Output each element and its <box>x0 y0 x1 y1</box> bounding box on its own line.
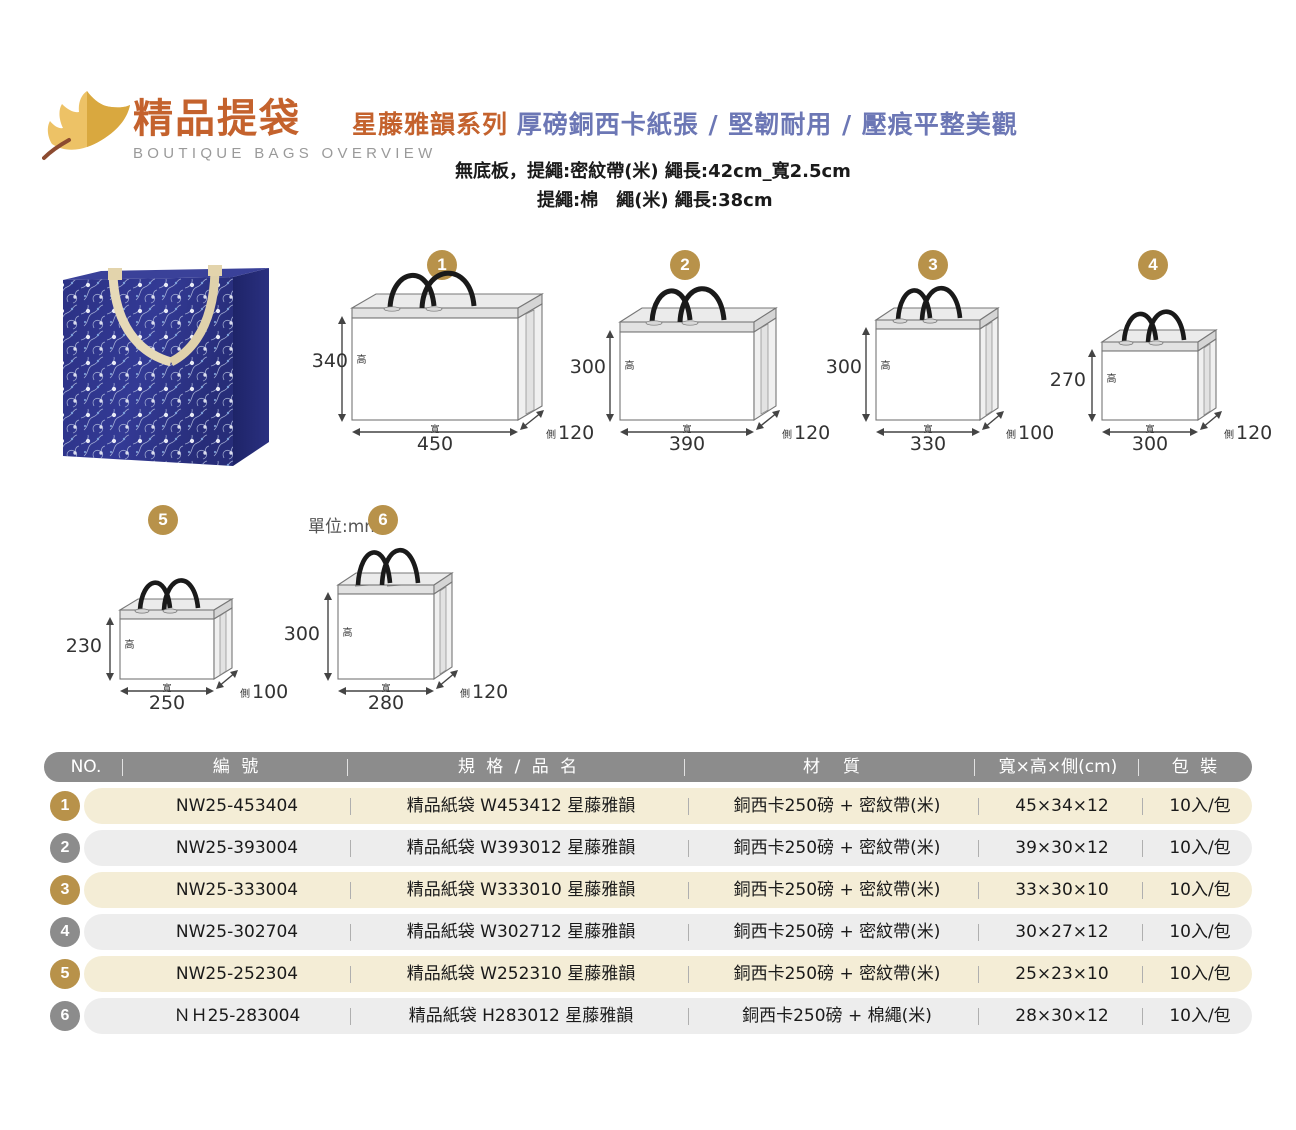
cell-size: 30×27×12 <box>982 914 1142 950</box>
cell-spec: 精品紙袋 W302712 星藤雅韻 <box>356 914 686 950</box>
table-row[interactable]: 5 NW25-252304 精品紙袋 W252310 星藤雅韻 銅西卡250磅 … <box>44 956 1252 992</box>
bag-diagram-5: 5 230 高 寬 250 側 100 <box>80 505 310 725</box>
handle-spec-line-1: 無底板，提繩:密紋帶(米) 繩長:42cm_寬2.5cm <box>455 157 851 186</box>
diagram-5-width-value: 250 <box>137 692 197 714</box>
cell-code: NW25-333004 <box>126 872 348 908</box>
row-separator-3 <box>978 798 979 815</box>
row-separator-3 <box>978 966 979 983</box>
row-separator-1 <box>350 798 351 815</box>
cell-material: 銅西卡250磅 + 密紋帶(米) <box>694 830 980 866</box>
row-badge: 5 <box>50 959 80 989</box>
page-header: 精品提袋 BOUTIQUE BAGS OVERVIEW 星藤雅韻系列 厚磅銅西卡… <box>0 0 1296 230</box>
diagram-4-height-value: 270 <box>1036 369 1086 391</box>
row-separator-4 <box>1142 966 1143 983</box>
cell-spec: 精品紙袋 H283012 星藤雅韻 <box>356 998 686 1034</box>
diagram-1-side-label: 側 <box>546 426 556 441</box>
diagram-3-height-value: 300 <box>812 356 862 378</box>
cell-size: 25×23×10 <box>982 956 1142 992</box>
header-separator-2 <box>347 759 348 776</box>
row-separator-2 <box>688 966 689 983</box>
row-separator-3 <box>978 840 979 857</box>
cell-size: 39×30×12 <box>982 830 1142 866</box>
series-headline: 星藤雅韻系列 厚磅銅西卡紙張 / 堅韌耐用 / 壓痕平整美觀 <box>352 108 1018 142</box>
cell-spec: 精品紙袋 W393012 星藤雅韻 <box>356 830 686 866</box>
table-row[interactable]: 3 NW25-333004 精品紙袋 W333010 星藤雅韻 銅西卡250磅 … <box>44 872 1252 908</box>
row-separator-2 <box>688 882 689 899</box>
row-separator-1 <box>350 966 351 983</box>
cell-code: NW25-252304 <box>126 956 348 992</box>
diagram-2-width-value: 390 <box>657 433 717 455</box>
row-separator-1 <box>350 924 351 941</box>
row-separator-2 <box>688 1008 689 1025</box>
cell-material: 銅西卡250磅 + 密紋帶(米) <box>694 914 980 950</box>
table-row[interactable]: 6 ＮＨ25-283004 精品紙袋 H283012 星藤雅韻 銅西卡250磅 … <box>44 998 1252 1034</box>
page-title-english: BOUTIQUE BAGS OVERVIEW <box>133 144 437 164</box>
cell-pack: 10入/包 <box>1146 998 1254 1034</box>
header-separator-1 <box>122 759 123 776</box>
row-separator-1 <box>350 1008 351 1025</box>
bag-diagram-1: 1 <box>330 250 580 480</box>
cell-size: 45×34×12 <box>982 788 1142 824</box>
handle-spec-block: 無底板，提繩:密紋帶(米) 繩長:42cm_寬2.5cm 提繩:棉 繩(米) 繩… <box>455 157 851 215</box>
diagram-2-height-label: 高 <box>620 360 635 370</box>
header-separator-4 <box>974 759 975 776</box>
column-header-code: 編 號 <box>126 752 348 782</box>
header-separator-5 <box>1138 759 1139 776</box>
cell-spec: 精品紙袋 W333010 星藤雅韻 <box>356 872 686 908</box>
cell-material: 銅西卡250磅 + 棉繩(米) <box>694 998 980 1034</box>
row-separator-4 <box>1142 798 1143 815</box>
diagram-3-height-label: 高 <box>876 360 891 370</box>
diagram-3-side-label: 側 <box>1006 426 1016 441</box>
bag-diagram-6: 6 300 高 寬 280 側 120 <box>300 505 530 725</box>
column-header-no: NO. <box>52 752 120 782</box>
row-badge: 2 <box>50 833 80 863</box>
diagram-5-side-label: 側 <box>240 685 250 700</box>
bag-diagram-4: 4 270 高 寬 300 側 120 <box>1058 250 1278 480</box>
diagram-2-height-value: 300 <box>556 356 606 378</box>
row-separator-3 <box>978 924 979 941</box>
bag-diagram-area: 單位:mm 1 <box>0 240 1296 740</box>
diagram-1-width-value: 450 <box>405 433 465 455</box>
row-separator-4 <box>1142 882 1143 899</box>
diagram-6-side-label: 側 <box>460 685 470 700</box>
table-header-row: NO. 編 號 規 格 / 品 名 材 質 寬×高×側(cm) 包 裝 <box>44 752 1252 782</box>
cell-pack: 10入/包 <box>1146 788 1254 824</box>
row-badge: 3 <box>50 875 80 905</box>
diagram-6-height-label: 高 <box>338 627 353 637</box>
column-header-material: 材 質 <box>690 752 976 782</box>
row-separator-4 <box>1142 1008 1143 1025</box>
cell-material: 銅西卡250磅 + 密紋帶(米) <box>694 956 980 992</box>
cell-pack: 10入/包 <box>1146 914 1254 950</box>
diagram-1-side-value: 120 <box>558 422 594 444</box>
row-separator-4 <box>1142 924 1143 941</box>
row-badge: 4 <box>50 917 80 947</box>
diagram-3-side-value: 100 <box>1018 422 1054 444</box>
cell-pack: 10入/包 <box>1146 956 1254 992</box>
row-separator-1 <box>350 840 351 857</box>
column-header-size: 寬×高×側(cm) <box>978 752 1138 782</box>
cell-spec: 精品紙袋 W252310 星藤雅韻 <box>356 956 686 992</box>
row-separator-3 <box>978 1008 979 1025</box>
cell-spec: 精品紙袋 W453412 星藤雅韻 <box>356 788 686 824</box>
diagram-4-side-value: 120 <box>1236 422 1272 444</box>
diagram-6-height-value: 300 <box>270 623 320 645</box>
cell-pack: 10入/包 <box>1146 872 1254 908</box>
diagram-5-height-value: 230 <box>52 635 102 657</box>
maple-leaf-icon <box>42 88 138 174</box>
diagram-2-side-value: 120 <box>794 422 830 444</box>
cell-material: 銅西卡250磅 + 密紋帶(米) <box>694 788 980 824</box>
diagram-4-width-value: 300 <box>1120 433 1180 455</box>
row-badge: 6 <box>50 1001 80 1031</box>
row-separator-2 <box>688 798 689 815</box>
header-separator-3 <box>684 759 685 776</box>
diagram-3-width-value: 330 <box>898 433 958 455</box>
cell-code: NW25-302704 <box>126 914 348 950</box>
diagram-4-side-label: 側 <box>1224 426 1234 441</box>
row-separator-3 <box>978 882 979 899</box>
diagram-1-height-value: 340 <box>290 350 348 372</box>
cell-code: NW25-393004 <box>126 830 348 866</box>
diagram-5-height-label: 高 <box>120 639 135 649</box>
bag-diagram-2: 2 300 高 寬 390 側 120 <box>590 250 830 480</box>
series-features: 厚磅銅西卡紙張 / 堅韌耐用 / 壓痕平整美觀 <box>517 110 1018 139</box>
table-row[interactable]: 2 NW25-393004 精品紙袋 W393012 星藤雅韻 銅西卡250磅 … <box>44 830 1252 866</box>
diagram-5-side-value: 100 <box>252 681 288 703</box>
series-name: 星藤雅韻系列 <box>352 110 508 139</box>
spec-table: NO. 編 號 規 格 / 品 名 材 質 寬×高×側(cm) 包 裝 1 NW… <box>44 752 1252 1034</box>
handle-spec-line-2: 提繩:棉 繩(米) 繩長:38cm <box>455 186 851 215</box>
cell-pack: 10入/包 <box>1146 830 1254 866</box>
diagram-6-side-value: 120 <box>472 681 508 703</box>
column-header-spec: 規 格 / 品 名 <box>354 752 684 782</box>
cell-material: 銅西卡250磅 + 密紋帶(米) <box>694 872 980 908</box>
diagram-2-side-label: 側 <box>782 426 792 441</box>
row-separator-2 <box>688 840 689 857</box>
cell-size: 28×30×12 <box>982 998 1142 1034</box>
row-separator-1 <box>350 882 351 899</box>
column-header-pack: 包 裝 <box>1142 752 1250 782</box>
row-separator-4 <box>1142 840 1143 857</box>
diagram-6-width-value: 280 <box>356 692 416 714</box>
bag-diagram-3: 3 300 高 寬 330 側 100 <box>838 250 1058 480</box>
row-badge: 1 <box>50 791 80 821</box>
table-row[interactable]: 4 NW25-302704 精品紙袋 W302712 星藤雅韻 銅西卡250磅 … <box>44 914 1252 950</box>
cell-code: ＮＨ25-283004 <box>126 998 348 1034</box>
diagram-1-height-label: 高 <box>352 354 367 364</box>
table-row[interactable]: 1 NW25-453404 精品紙袋 W453412 星藤雅韻 銅西卡250磅 … <box>44 788 1252 824</box>
diagram-4-height-label: 高 <box>1102 373 1117 383</box>
cell-code: NW25-453404 <box>126 788 348 824</box>
cell-size: 33×30×10 <box>982 872 1142 908</box>
row-separator-2 <box>688 924 689 941</box>
